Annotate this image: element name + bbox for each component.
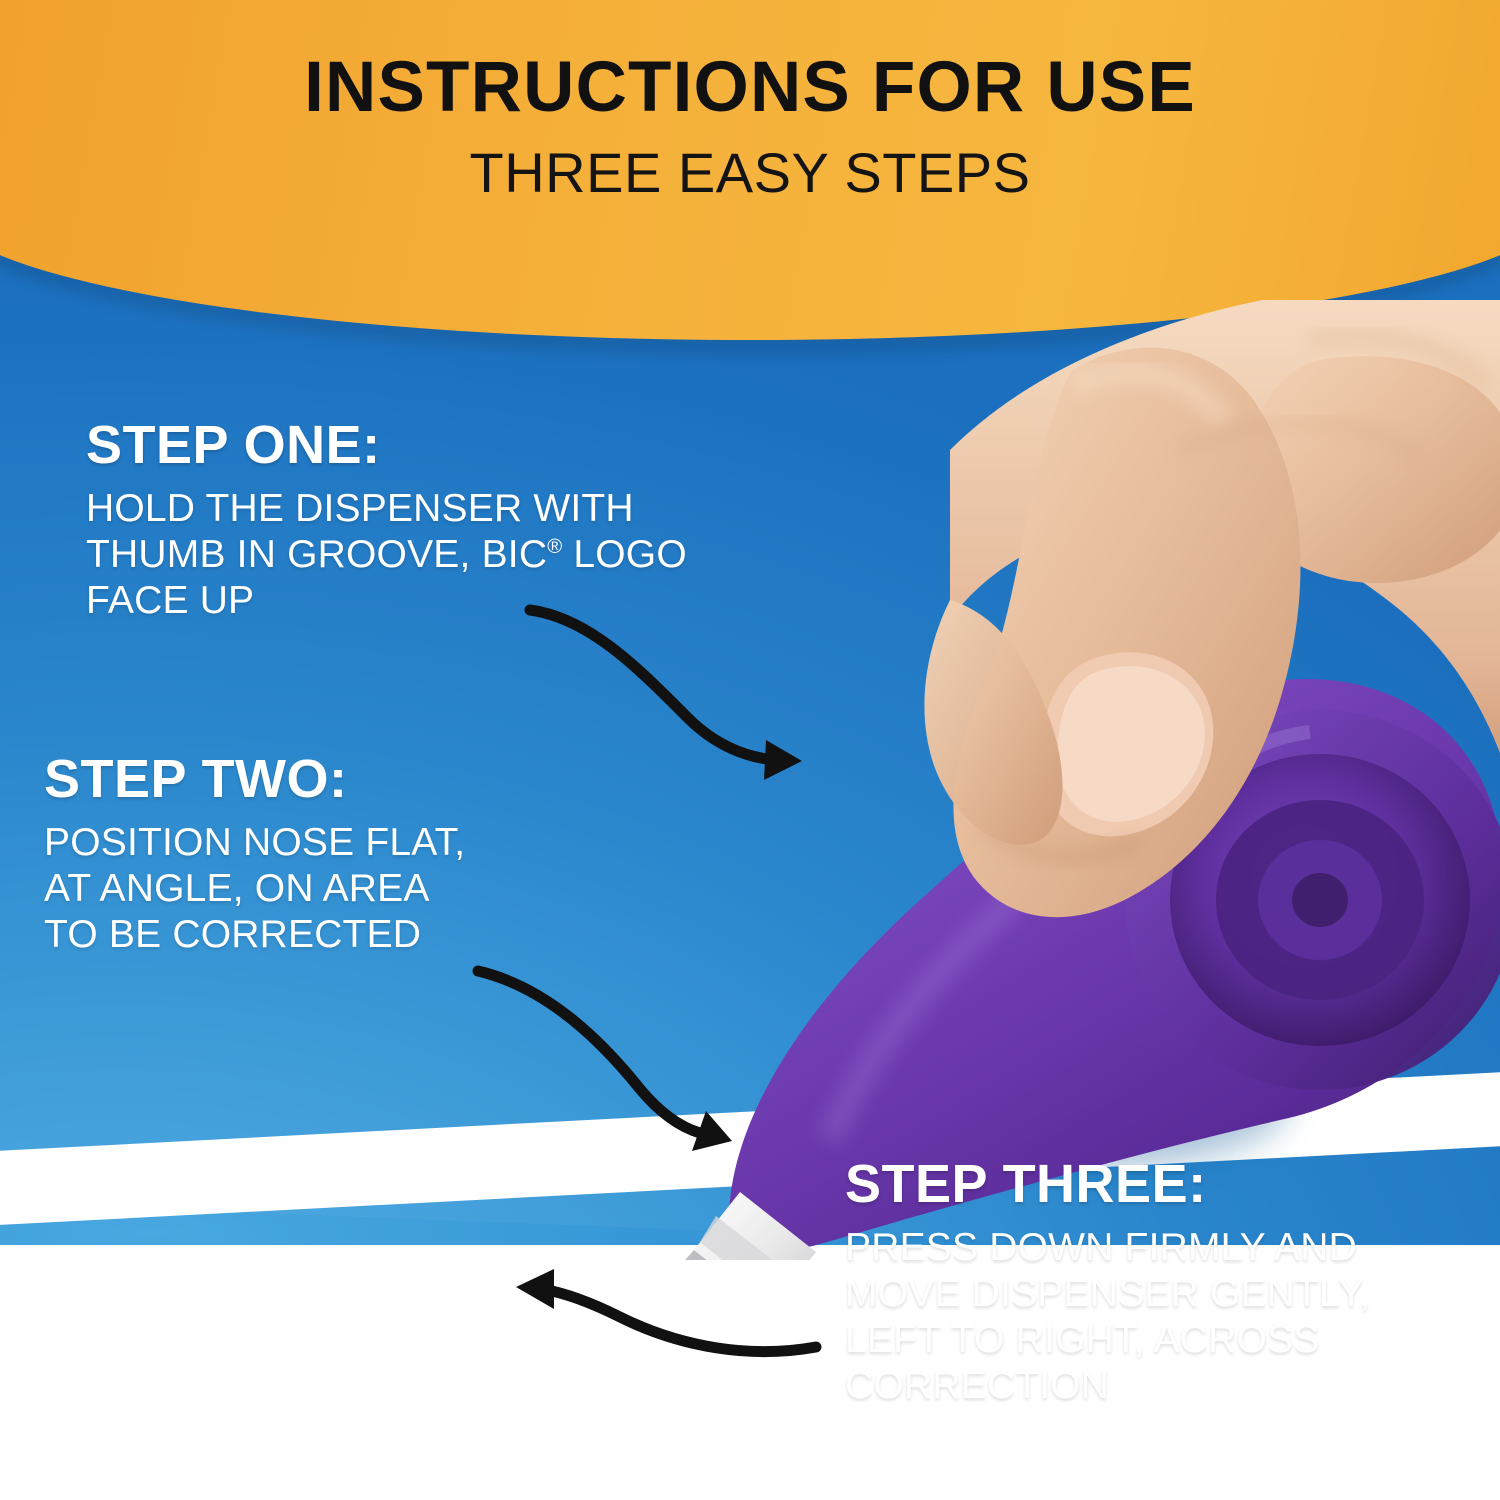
arrow-step-one-icon (520, 600, 820, 790)
step-two-line2: AT ANGLE, ON AREA (44, 866, 744, 912)
arrow-step-three-icon (500, 1255, 830, 1385)
step-three-block: STEP THREE: PRESS DOWN FIRMLY AND MOVE D… (845, 1157, 1485, 1409)
step-three-body: PRESS DOWN FIRMLY AND MOVE DISPENSER GEN… (845, 1225, 1485, 1409)
step-three-line2: MOVE DISPENSER GENTLY, (845, 1271, 1485, 1317)
step-three-line1: PRESS DOWN FIRMLY AND (845, 1225, 1485, 1271)
step-one-line2: THUMB IN GROOVE, BIC® LOGO (86, 532, 846, 578)
step-three-line3: LEFT TO RIGHT, ACROSS (845, 1317, 1485, 1363)
step-two-line1: POSITION NOSE FLAT, (44, 820, 744, 866)
registered-trademark-icon: ® (547, 536, 562, 558)
step-one-line1: HOLD THE DISPENSER WITH (86, 486, 846, 532)
poster-image: INSTRUCTIONS FOR USE THREE EASY STEPS ST… (0, 0, 1500, 1500)
page-title: INSTRUCTIONS FOR USE (0, 52, 1500, 123)
step-three-heading: STEP THREE: (845, 1157, 1485, 1211)
step-three-line4: CORRECTION (845, 1363, 1485, 1409)
step-one-block: STEP ONE: HOLD THE DISPENSER WITH THUMB … (86, 418, 846, 624)
page-subtitle: THREE EASY STEPS (0, 145, 1500, 201)
step-one-line2-a: THUMB IN GROOVE, BIC (86, 533, 547, 576)
header: INSTRUCTIONS FOR USE THREE EASY STEPS (0, 52, 1500, 201)
step-one-line2-b: LOGO (562, 533, 687, 576)
arrow-step-two-icon (470, 965, 760, 1165)
step-two-line3: TO BE CORRECTED (44, 912, 744, 958)
step-one-heading: STEP ONE: (86, 418, 846, 472)
step-two-body: POSITION NOSE FLAT, AT ANGLE, ON AREA TO… (44, 820, 744, 958)
